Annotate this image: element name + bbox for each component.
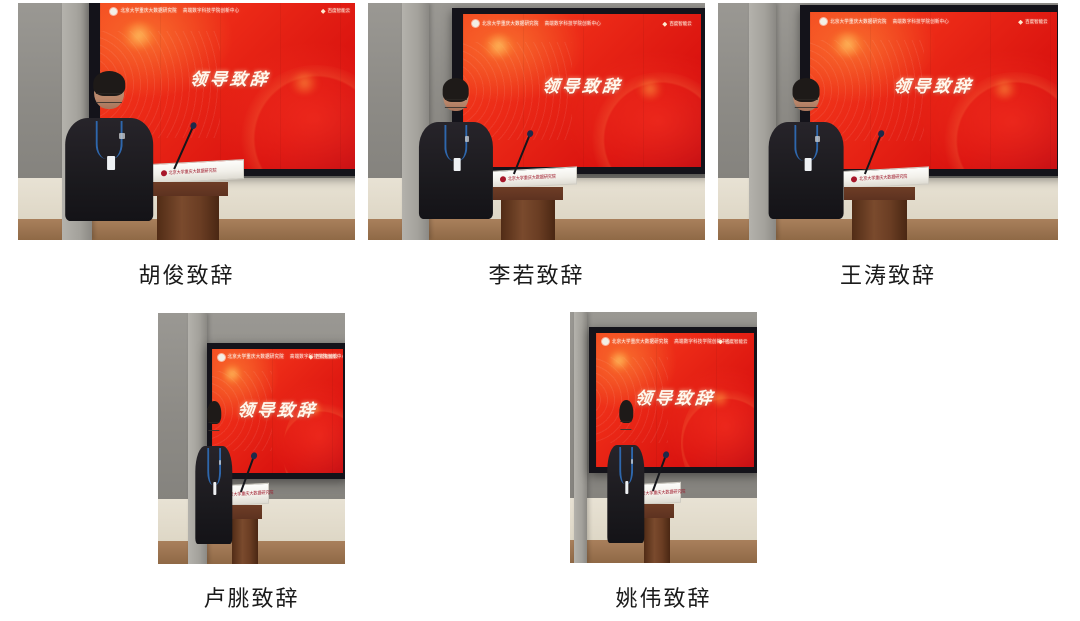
photo-image: 北京大学重庆大数据研究院高端数字科技学院创新中心百度智能云领导致辞北京大学重庆大… bbox=[158, 313, 345, 564]
speaker-person bbox=[65, 74, 153, 221]
speaker-lanyard bbox=[207, 448, 221, 485]
photo-caption: 卢朓致辞 bbox=[158, 581, 345, 613]
speaker-lanyard bbox=[619, 447, 633, 484]
photo-caption: 王涛致辞 bbox=[718, 258, 1058, 290]
shirt-logo-icon bbox=[815, 136, 819, 141]
wall-pillar bbox=[574, 312, 587, 563]
podium-neck bbox=[148, 182, 228, 196]
podium: 北京大学重庆大数据研究院 bbox=[479, 169, 577, 240]
slide-title: 领导致辞 bbox=[810, 72, 1057, 97]
glasses-icon bbox=[96, 93, 122, 102]
photo-image: 北京大学重庆大数据研究院高端数字科技学院创新中心百度智能云领导致辞北京大学重庆大… bbox=[718, 3, 1058, 240]
glasses-icon bbox=[208, 422, 219, 431]
slide-brand-logo: 百度智能云 bbox=[718, 339, 748, 345]
slide-org-name: 北京大学重庆大数据研究院 bbox=[482, 21, 538, 28]
slide-org-name: 北京大学重庆大数据研究院 bbox=[830, 18, 886, 25]
brand-mark-icon bbox=[321, 9, 326, 14]
podium-neck bbox=[228, 505, 262, 519]
shirt-logo-icon bbox=[219, 460, 221, 466]
photo-image: 北京大学重庆大数据研究院高端数字科技学院创新中心百度智能云领导致辞北京大学重庆大… bbox=[368, 3, 705, 240]
glasses-icon bbox=[620, 421, 631, 430]
speaker-person bbox=[195, 403, 232, 544]
slide-glow-highlight bbox=[482, 33, 515, 59]
brand-mark-icon bbox=[662, 22, 667, 27]
podium-neck bbox=[844, 187, 915, 200]
slide-header: 北京大学重庆大数据研究院高端数字科技学院创新中心 bbox=[110, 8, 239, 15]
podium-seal-icon bbox=[851, 176, 857, 182]
slide-org-name: 北京大学重庆大数据研究院 bbox=[612, 338, 668, 345]
photo-caption: 胡俊致辞 bbox=[18, 258, 355, 290]
speaker-lanyard bbox=[96, 121, 123, 159]
conference-room-scene: 北京大学重庆大数据研究院高端数字科技学院创新中心百度智能云领导致辞北京大学重庆大… bbox=[18, 3, 355, 240]
speaker-person bbox=[769, 81, 844, 218]
slide-brand-logo: 百度智能云 bbox=[662, 21, 692, 27]
photo-figure: 北京大学重庆大数据研究院高端数字科技学院创新中心百度智能云领导致辞北京大学重庆大… bbox=[718, 3, 1058, 240]
brand-mark-icon bbox=[718, 339, 723, 344]
slide-header: 北京大学重庆大数据研究院高端数字科技学院创新中心 bbox=[472, 20, 601, 27]
slide-glow-highlight bbox=[223, 363, 241, 384]
podium-base bbox=[157, 196, 219, 240]
slide-glow-highlight bbox=[121, 21, 157, 50]
glasses-icon bbox=[444, 99, 466, 108]
presentation-screen: 北京大学重庆大数据研究院高端数字科技学院创新中心百度智能云领导致辞 bbox=[463, 14, 702, 167]
podium-neck bbox=[493, 187, 563, 200]
slide-header: 北京大学重庆大数据研究院高端数字科技学院创新中心 bbox=[602, 338, 731, 345]
podium-seal-icon bbox=[500, 176, 506, 182]
slide-sub-name: 高端数字科技学院创新中心 bbox=[183, 8, 239, 15]
presentation-screen: 北京大学重庆大数据研究院高端数字科技学院创新中心百度智能云领导致辞 bbox=[810, 12, 1057, 169]
speaker-badge bbox=[625, 481, 628, 494]
brand-mark-icon bbox=[308, 355, 313, 360]
slide-brand-logo: 百度智能云 bbox=[1018, 19, 1048, 25]
podium-base bbox=[232, 519, 258, 564]
podium-base bbox=[644, 518, 670, 563]
conference-room-scene: 北京大学重庆大数据研究院高端数字科技学院创新中心百度智能云领导致辞北京大学重庆大… bbox=[570, 312, 757, 563]
photo-figure: 北京大学重庆大数据研究院高端数字科技学院创新中心百度智能云领导致辞北京大学重庆大… bbox=[368, 3, 705, 240]
slide-title: 领导致辞 bbox=[463, 72, 702, 97]
slide-brand-logo: 百度智能云 bbox=[308, 354, 338, 360]
podium-seal-icon bbox=[160, 170, 166, 176]
photo-caption: 李若致辞 bbox=[368, 258, 705, 290]
speaker-person bbox=[419, 81, 493, 218]
slide-brand-name: 百度智能云 bbox=[725, 339, 748, 345]
photo-figure: 北京大学重庆大数据研究院高端数字科技学院创新中心百度智能云领导致辞北京大学重庆大… bbox=[570, 312, 757, 563]
slide-org-name: 北京大学重庆大数据研究院 bbox=[228, 354, 284, 361]
podium-base bbox=[501, 200, 556, 240]
university-seal-icon bbox=[820, 18, 827, 25]
glasses-icon bbox=[795, 99, 817, 108]
photo-figure: 北京大学重庆大数据研究院高端数字科技学院创新中心百度智能云领导致辞北京大学重庆大… bbox=[158, 313, 345, 564]
speaker-person bbox=[607, 402, 644, 543]
podium-neck bbox=[640, 504, 674, 518]
shirt-logo-icon bbox=[631, 459, 633, 465]
slide-sub-name: 高端数字科技学院创新中心 bbox=[545, 21, 601, 28]
speaker-badge bbox=[805, 158, 812, 170]
slide-brand-name: 百度智能云 bbox=[669, 21, 692, 27]
slide-brand-name: 百度智能云 bbox=[1025, 19, 1048, 25]
speaker-badge bbox=[454, 158, 461, 170]
slide-glow-highlight bbox=[608, 349, 630, 372]
slide-sub-name: 高端数字科技学院创新中心 bbox=[893, 18, 949, 25]
conference-room-scene: 北京大学重庆大数据研究院高端数字科技学院创新中心百度智能云领导致辞北京大学重庆大… bbox=[368, 3, 705, 240]
podium-base bbox=[852, 200, 907, 240]
photo-figure: 北京大学重庆大数据研究院高端数字科技学院创新中心百度智能云领导致辞北京大学重庆大… bbox=[18, 3, 355, 240]
shirt-logo-icon bbox=[119, 133, 124, 139]
podium-plaque-text: 北京大学重庆大数据研究院 bbox=[859, 173, 907, 183]
slide-glow-highlight bbox=[830, 31, 865, 58]
podium: 北京大学重庆大数据研究院 bbox=[830, 169, 929, 240]
conference-room-scene: 北京大学重庆大数据研究院高端数字科技学院创新中心百度智能云领导致辞北京大学重庆大… bbox=[158, 313, 345, 564]
conference-room-scene: 北京大学重庆大数据研究院高端数字科技学院创新中心百度智能云领导致辞北京大学重庆大… bbox=[718, 3, 1058, 240]
speaker-badge bbox=[107, 156, 115, 169]
figure-page: 北京大学重庆大数据研究院高端数字科技学院创新中心百度智能云领导致辞北京大学重庆大… bbox=[0, 0, 1080, 621]
slide-header: 北京大学重庆大数据研究院高端数字科技学院创新中心 bbox=[820, 18, 949, 25]
speaker-lanyard bbox=[795, 125, 818, 161]
speaker-lanyard bbox=[444, 125, 467, 161]
photo-caption: 姚伟致辞 bbox=[570, 581, 757, 613]
shirt-logo-icon bbox=[465, 136, 469, 141]
university-seal-icon bbox=[602, 338, 609, 345]
photo-image: 北京大学重庆大数据研究院高端数字科技学院创新中心百度智能云领导致辞北京大学重庆大… bbox=[570, 312, 757, 563]
slide-org-name: 北京大学重庆大数据研究院 bbox=[120, 8, 176, 15]
speaker-badge bbox=[213, 482, 216, 495]
slide-brand-name: 百度智能云 bbox=[328, 8, 351, 14]
university-seal-icon bbox=[110, 8, 117, 15]
slide-brand-logo: 百度智能云 bbox=[321, 8, 351, 14]
photo-image: 北京大学重庆大数据研究院高端数字科技学院创新中心百度智能云领导致辞北京大学重庆大… bbox=[18, 3, 355, 240]
slide-brand-name: 百度智能云 bbox=[315, 354, 338, 360]
brand-mark-icon bbox=[1018, 20, 1023, 25]
podium-plaque-text: 北京大学重庆大数据研究院 bbox=[508, 173, 556, 183]
university-seal-icon bbox=[218, 354, 225, 361]
university-seal-icon bbox=[472, 20, 479, 27]
